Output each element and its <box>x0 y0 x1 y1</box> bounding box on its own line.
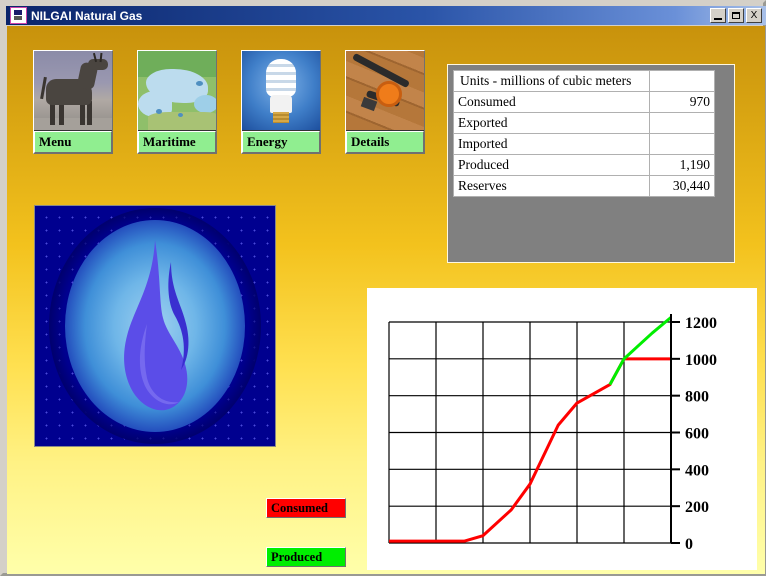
statistics-panel: Units - millions of cubic meters Consume… <box>447 64 735 263</box>
table-header-row: Units - millions of cubic meters <box>454 71 715 92</box>
map-icon <box>138 51 216 131</box>
row-label-exported: Exported <box>454 113 650 134</box>
statistics-table: Units - millions of cubic meters Consume… <box>453 70 715 197</box>
row-label-consumed: Consumed <box>454 92 650 113</box>
table-row: Consumed 970 <box>454 92 715 113</box>
nav-button-details-label: Details <box>346 131 424 153</box>
nav-button-details[interactable]: Details <box>345 50 425 154</box>
row-label-reserves: Reserves <box>454 176 650 197</box>
nav-button-maritime-label: Maritime <box>138 131 216 153</box>
row-value-imported <box>650 134 715 155</box>
svg-text:1000: 1000 <box>685 352 717 369</box>
table-header-value <box>650 71 715 92</box>
nav-button-menu-label: Menu <box>34 131 112 153</box>
row-value-exported <box>650 113 715 134</box>
svg-text:400: 400 <box>685 462 709 479</box>
window-controls: X <box>710 8 764 23</box>
close-button[interactable]: X <box>746 8 762 23</box>
nilgai-antelope-icon <box>34 51 112 131</box>
nav-button-maritime[interactable]: Maritime <box>137 50 217 154</box>
maximize-button[interactable] <box>728 8 744 23</box>
table-row: Imported <box>454 134 715 155</box>
chart-svg: 020040060080010001200 <box>367 288 757 570</box>
table-header-label: Units - millions of cubic meters <box>454 71 650 92</box>
client-area: Menu Maritime Energy <box>7 26 765 574</box>
row-value-produced: 1,190 <box>650 155 715 176</box>
nav-button-menu[interactable]: Menu <box>33 50 113 154</box>
app-icon <box>10 7 27 24</box>
legend-item-produced[interactable]: Produced <box>266 547 346 567</box>
production-consumption-chart: 020040060080010001200 <box>367 288 757 570</box>
minimize-button[interactable] <box>710 8 726 23</box>
window-title: NILGAI Natural Gas <box>31 9 142 23</box>
natural-gas-flame-logo <box>34 205 276 447</box>
row-label-produced: Produced <box>454 155 650 176</box>
maximize-icon <box>732 12 740 19</box>
row-label-imported: Imported <box>454 134 650 155</box>
table-row: Reserves 30,440 <box>454 176 715 197</box>
flame-shape-icon <box>35 206 276 447</box>
application-window: NILGAI Natural Gas X Menu <box>0 0 766 576</box>
nav-button-energy[interactable]: Energy <box>241 50 321 154</box>
light-bulb-icon <box>242 51 320 131</box>
svg-text:0: 0 <box>685 536 693 553</box>
table-row: Exported <box>454 113 715 134</box>
pipe-wrench-icon <box>346 51 424 131</box>
svg-text:600: 600 <box>685 426 709 443</box>
table-row: Produced 1,190 <box>454 155 715 176</box>
title-bar: NILGAI Natural Gas X <box>6 6 766 25</box>
row-value-reserves: 30,440 <box>650 176 715 197</box>
svg-text:800: 800 <box>685 389 709 406</box>
svg-text:200: 200 <box>685 499 709 516</box>
nav-button-energy-label: Energy <box>242 131 320 153</box>
legend-item-consumed[interactable]: Consumed <box>266 498 346 518</box>
row-value-consumed: 970 <box>650 92 715 113</box>
svg-text:1200: 1200 <box>685 315 717 332</box>
minimize-icon <box>714 18 722 20</box>
